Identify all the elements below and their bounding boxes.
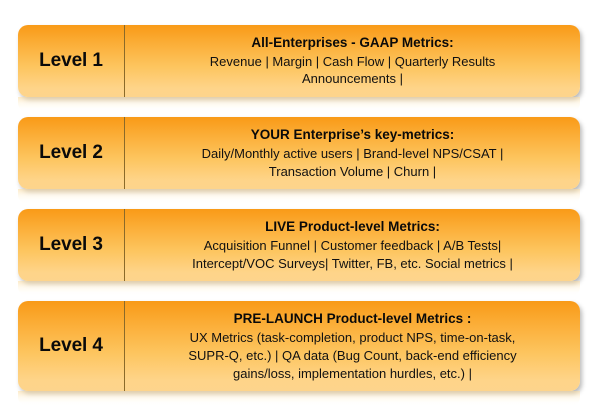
level-heading-1: All-Enterprises - GAAP Metrics: (251, 34, 453, 52)
level-line-2-1: Daily/Monthly active users | Brand-level… (202, 145, 504, 163)
level-line-4-1: UX Metrics (task-completion, product NPS… (190, 329, 516, 347)
level-card-2[interactable]: Level 2 YOUR Enterprise’s key-metrics: D… (18, 117, 580, 189)
level-line-3-2: Intercept/VOC Surveys| Twitter, FB, etc.… (192, 255, 513, 273)
level-card-3[interactable]: Level 3 LIVE Product-level Metrics: Acqu… (18, 209, 580, 281)
level-block-1: Level 1 All-Enterprises - GAAP Metrics: … (18, 25, 580, 112)
level-block-2: Level 2 YOUR Enterprise’s key-metrics: D… (18, 117, 580, 204)
level-label-cell-1: Level 1 (18, 25, 125, 97)
level-line-1-2: Announcements | (302, 70, 403, 88)
level-content-1: All-Enterprises - GAAP Metrics: Revenue … (125, 25, 580, 97)
level-label-2: Level 2 (39, 142, 103, 164)
card-reflection-3 (18, 281, 580, 296)
level-heading-4: PRE-LAUNCH Product-level Metrics : (234, 310, 472, 328)
level-content-2: YOUR Enterprise’s key-metrics: Daily/Mon… (125, 117, 580, 189)
level-line-4-2: SUPR-Q, etc.) | QA data (Bug Count, back… (188, 347, 516, 365)
level-line-4-3: gains/loss, implementation hurdles, etc.… (233, 365, 472, 383)
levels-stack: Level 1 All-Enterprises - GAAP Metrics: … (0, 0, 610, 418)
level-content-4: PRE-LAUNCH Product-level Metrics : UX Me… (125, 301, 580, 391)
level-label-1: Level 1 (39, 50, 103, 72)
level-label-3: Level 3 (39, 234, 103, 256)
level-content-3: LIVE Product-level Metrics: Acquisition … (125, 209, 580, 281)
level-card-4[interactable]: Level 4 PRE-LAUNCH Product-level Metrics… (18, 301, 580, 391)
card-reflection-4 (18, 391, 580, 406)
level-card-1[interactable]: Level 1 All-Enterprises - GAAP Metrics: … (18, 25, 580, 97)
level-heading-3: LIVE Product-level Metrics: (265, 218, 440, 236)
level-line-2-2: Transaction Volume | Churn | (269, 163, 436, 181)
card-reflection-2 (18, 189, 580, 204)
level-line-1-1: Revenue | Margin | Cash Flow | Quarterly… (210, 53, 495, 71)
level-block-4: Level 4 PRE-LAUNCH Product-level Metrics… (18, 301, 580, 406)
level-label-cell-2: Level 2 (18, 117, 125, 189)
card-reflection-1 (18, 97, 580, 112)
level-label-cell-4: Level 4 (18, 301, 125, 391)
level-line-3-1: Acquisition Funnel | Customer feedback |… (204, 237, 501, 255)
level-label-cell-3: Level 3 (18, 209, 125, 281)
level-block-3: Level 3 LIVE Product-level Metrics: Acqu… (18, 209, 580, 296)
level-label-4: Level 4 (39, 335, 103, 357)
level-heading-2: YOUR Enterprise’s key-metrics: (251, 126, 455, 144)
